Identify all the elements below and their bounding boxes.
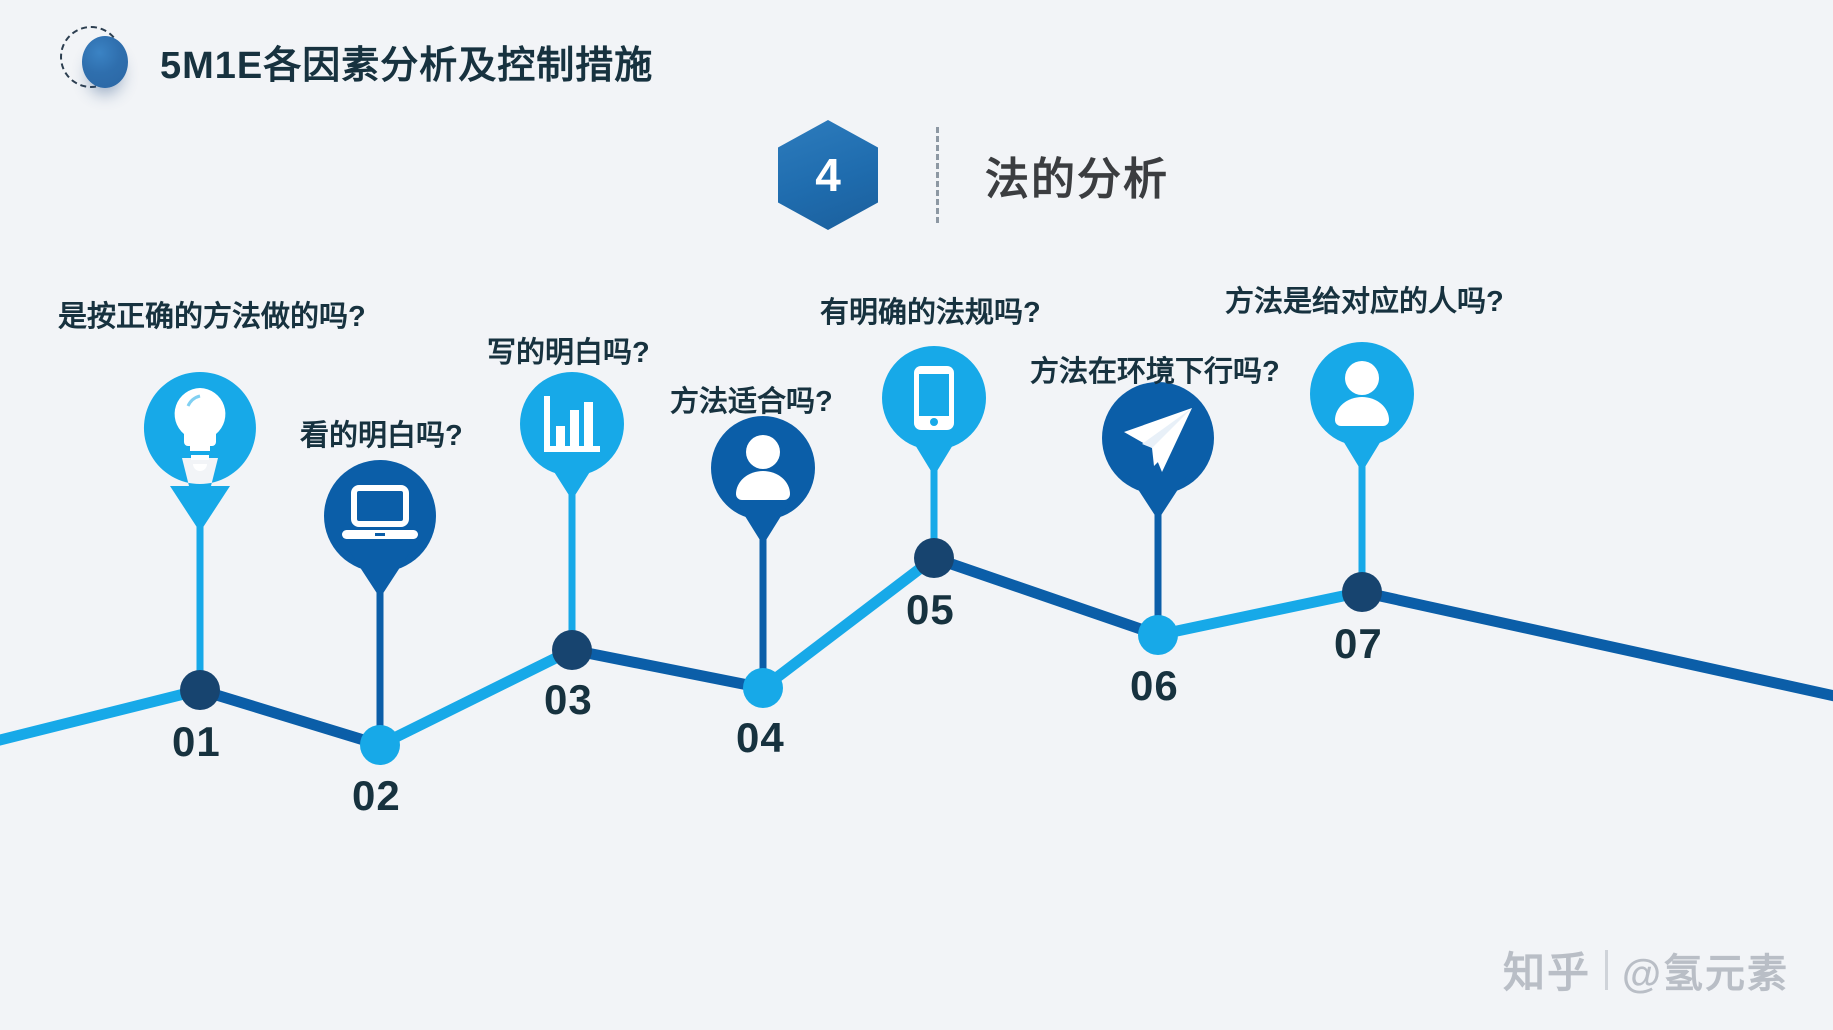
map-pin-01[interactable]	[144, 372, 256, 532]
question-label-03: 写的明白吗?	[487, 329, 650, 371]
map-pin-02[interactable]	[324, 460, 436, 598]
node-number-03: 03	[544, 676, 593, 724]
node-dot-01	[180, 670, 220, 710]
map-pin-07[interactable]	[1310, 342, 1414, 472]
question-label-07: 方法是给对应的人吗?	[1225, 278, 1504, 320]
slide-canvas: 5M1E各因素分析及控制措施 4 法的分析	[0, 0, 1833, 1030]
node-dot-03	[552, 630, 592, 670]
node-dot-07	[1342, 572, 1382, 612]
pin-tip-03	[544, 456, 600, 500]
node-dot-02	[360, 725, 400, 765]
question-label-01: 是按正确的方法做的吗?	[58, 293, 366, 335]
pin-tip-06	[1128, 474, 1188, 520]
map-pin-04[interactable]	[711, 416, 815, 545]
watermark-handle: @氢元素	[1622, 941, 1789, 999]
node-dot-05	[914, 538, 954, 578]
watermark-separator	[1605, 950, 1608, 990]
question-label-02: 看的明白吗?	[300, 412, 463, 454]
map-pin-05[interactable]	[882, 346, 986, 476]
line-segment-06-07	[1158, 592, 1362, 635]
question-label-05: 有明确的法规吗?	[820, 289, 1041, 331]
pin-tip-04	[735, 500, 791, 545]
map-pin-03[interactable]	[520, 372, 624, 500]
pin-tip-01	[170, 486, 230, 532]
question-label-06: 方法在环境下行吗?	[1030, 348, 1280, 390]
node-number-06: 06	[1130, 662, 1179, 710]
node-number-05: 05	[906, 586, 955, 634]
map-pin-06[interactable]	[1102, 382, 1214, 520]
line-segment-05-06	[934, 558, 1158, 635]
line-segment-01-02	[200, 690, 380, 745]
pin-tip-02	[350, 552, 410, 598]
smartphone-icon	[914, 366, 954, 430]
chart-svg	[0, 0, 1833, 1030]
node-number-01: 01	[172, 718, 221, 766]
pin-tip-07	[1334, 426, 1390, 472]
line-segment-03-04	[572, 650, 763, 688]
node-number-02: 02	[352, 772, 401, 820]
watermark: 知乎 @氢元素	[1503, 939, 1789, 1000]
node-dot-06	[1138, 615, 1178, 655]
node-number-07: 07	[1334, 620, 1383, 668]
node-number-04: 04	[736, 714, 785, 762]
line-segment-07-end	[1362, 592, 1833, 700]
pin-tip-05	[906, 430, 962, 476]
zhihu-logo: 知乎	[1503, 939, 1591, 1000]
lightbulb-icon	[175, 388, 226, 471]
zigzag-line-chart	[0, 0, 1833, 1030]
question-label-04: 方法适合吗?	[670, 378, 833, 420]
node-dot-04	[743, 668, 783, 708]
line-segment-00-01	[0, 690, 200, 745]
